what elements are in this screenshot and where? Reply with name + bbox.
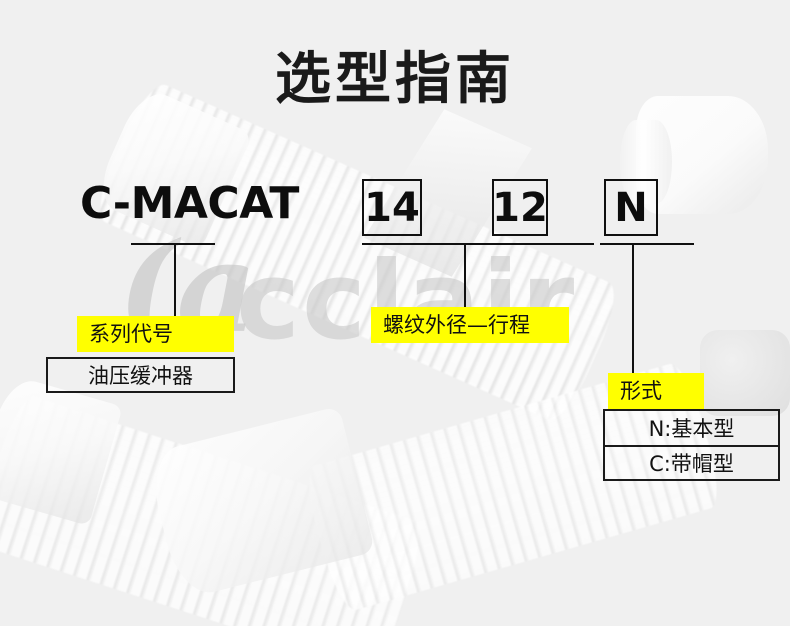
callout-label-form: 形式 <box>608 373 704 409</box>
callout-value-series: 油压缓冲器 <box>46 357 235 393</box>
form-option-basic: N:基本型 <box>605 411 778 445</box>
leader-line-series-horizontal <box>131 243 215 245</box>
leader-line-form-horizontal <box>600 243 694 245</box>
selection-guide-page: (a cclair 选型指南 C-MACAT 14 12 N 系列代号 油压缓冲… <box>0 0 790 626</box>
leader-line-thread-vertical <box>464 243 466 307</box>
leader-line-form-vertical <box>632 243 634 373</box>
form-option-capped: C:带帽型 <box>605 445 778 479</box>
code-box-form: N <box>604 179 658 236</box>
diagram-content: 选型指南 C-MACAT 14 12 N 系列代号 油压缓冲器 螺纹外径—行程 … <box>0 0 790 626</box>
leader-line-thread-horizontal <box>362 243 594 245</box>
form-options-table: N:基本型 C:带帽型 <box>603 409 780 481</box>
model-prefix: C-MACAT <box>80 178 299 229</box>
callout-label-thread: 螺纹外径—行程 <box>371 307 569 343</box>
page-title: 选型指南 <box>0 34 790 115</box>
code-box-thread-diameter: 14 <box>362 179 422 236</box>
leader-line-series-vertical <box>174 243 176 317</box>
callout-label-series: 系列代号 <box>77 316 234 352</box>
code-box-stroke: 12 <box>492 179 548 236</box>
